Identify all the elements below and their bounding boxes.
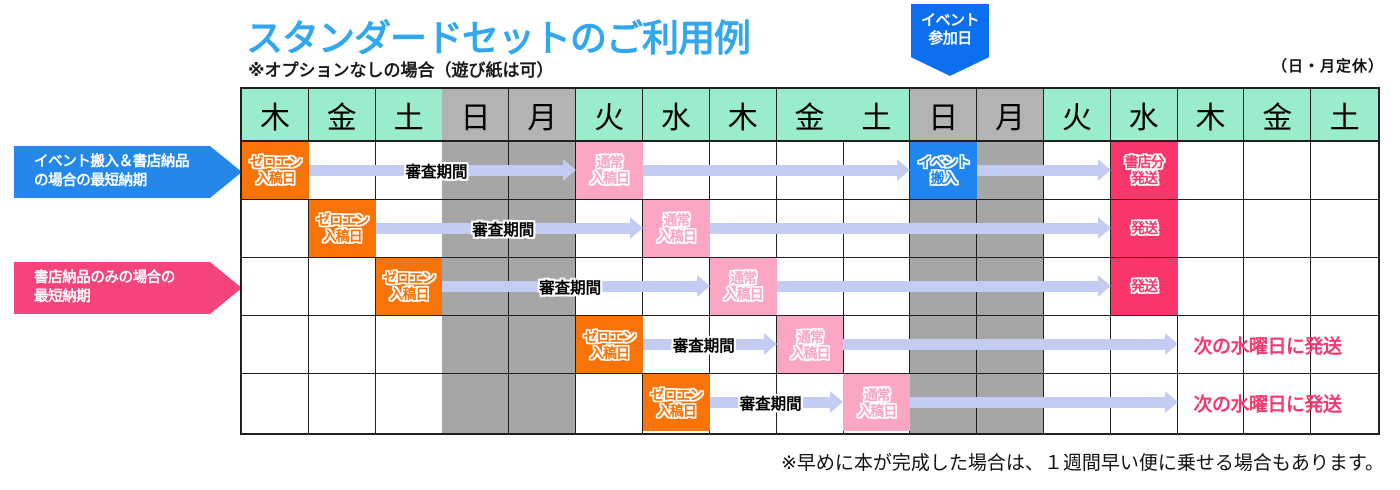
schedule-row: 審査期間次の水曜日に発送ゼロエン入稿日通常入稿日 — [242, 316, 1378, 374]
schedule-row: 審査期間次の水曜日に発送ゼロエン入稿日通常入稿日 — [242, 374, 1378, 432]
milestone-normal: 通常入稿日 — [843, 374, 910, 431]
day-header-1: 金 — [309, 89, 376, 140]
review-period-label: 審査期間 — [539, 276, 601, 298]
milestone-line2: 入稿日 — [857, 403, 896, 419]
flow-arrow — [643, 165, 898, 176]
milestone-line1: ゼロエン — [383, 270, 435, 286]
milestone-line1: 発送 — [1131, 278, 1157, 294]
schedule-row: 審査期間ゼロエン入稿日通常入稿日発送 — [242, 200, 1378, 258]
flow-arrow — [910, 397, 1165, 408]
day-header-5: 火 — [576, 89, 643, 140]
milestone-normal: 通常入稿日 — [777, 316, 844, 373]
day-header-0: 木 — [242, 89, 309, 140]
event-day-pennant: イベント 参加日 — [911, 4, 989, 76]
milestone-line1: 通常 — [797, 329, 823, 345]
milestone-normal: 通常入稿日 — [710, 258, 777, 315]
day-header-11: 月 — [977, 89, 1044, 140]
schedule-row: 審査期間ゼロエン入稿日通常入稿日イベント搬入書店分発送 — [242, 142, 1378, 200]
milestone-line1: ゼロエン — [584, 329, 636, 345]
day-header-6: 水 — [643, 89, 710, 140]
milestone-line1: 通常 — [730, 270, 756, 286]
schedule-chart-page: スタンダードセットのご利用例 ※オプションなしの場合（遊び紙は可） （日・月定休… — [0, 0, 1400, 490]
day-header-9: 土 — [843, 89, 910, 140]
day-header-10: 日 — [910, 89, 977, 140]
page-title: スタンダードセットのご利用例 — [246, 8, 750, 62]
flow-arrow — [710, 223, 1099, 234]
milestone-ship: 発送 — [1111, 200, 1178, 257]
grid-header-row: 木金土日月火水木金土日月火水木金土 — [242, 89, 1378, 142]
flow-arrow — [843, 339, 1165, 350]
day-header-8: 金 — [777, 89, 844, 140]
milestone-zero: ゼロエン入稿日 — [576, 316, 643, 373]
flow-arrow — [977, 165, 1099, 176]
milestone-normal: 通常入稿日 — [643, 200, 710, 257]
milestone-line2: 入稿日 — [256, 170, 295, 186]
milestone-normal: 通常入稿日 — [576, 142, 643, 199]
day-header-12: 火 — [1044, 89, 1111, 140]
milestone-line1: ゼロエン — [249, 154, 301, 170]
milestone-event: イベント搬入 — [910, 142, 977, 199]
day-header-14: 木 — [1178, 89, 1245, 140]
day-header-15: 金 — [1244, 89, 1311, 140]
day-header-3: 日 — [442, 89, 509, 140]
milestone-line1: 通常 — [663, 212, 689, 228]
side-label-line1: 書店納品のみの場合の — [34, 269, 242, 288]
milestone-line2: 入稿日 — [590, 170, 629, 186]
flow-arrow — [777, 281, 1099, 292]
schedule-grid: 木金土日月火水木金土日月火水木金土 審査期間ゼロエン入稿日通常入稿日イベント搬入… — [240, 87, 1380, 435]
review-period-label: 審査期間 — [405, 160, 467, 182]
milestone-line1: 通常 — [597, 154, 623, 170]
side-label-line2: の場合の最短納期 — [34, 172, 242, 191]
page-subtitle: ※オプションなしの場合（遊び紙は可） — [248, 56, 554, 81]
milestone-line2: 入稿日 — [790, 345, 829, 361]
next-wednesday-shipping-label: 次の水曜日に発送 — [1194, 332, 1342, 359]
grid-body: 審査期間ゼロエン入稿日通常入稿日イベント搬入書店分発送審査期間ゼロエン入稿日通常… — [242, 142, 1378, 433]
milestone-ship: 書店分発送 — [1111, 142, 1178, 199]
milestone-line1: 書店分 — [1125, 154, 1164, 170]
milestone-line1: ゼロエン — [316, 212, 368, 228]
milestone-zero: ゼロエン入稿日 — [376, 258, 443, 315]
milestone-line1: ゼロエン — [650, 387, 702, 403]
milestone-line2: 入稿日 — [323, 228, 362, 244]
review-period-label: 審査期間 — [673, 334, 735, 356]
milestone-line2: 入稿日 — [724, 286, 763, 302]
milestone-line2: 発送 — [1131, 170, 1157, 186]
milestone-zero: ゼロエン入稿日 — [309, 200, 376, 257]
side-label-bookstore-only: 書店納品のみの場合の 最短納期 — [14, 262, 242, 314]
day-header-7: 木 — [710, 89, 777, 140]
milestone-line1: 通常 — [864, 387, 890, 403]
pennant-line2: 参加日 — [911, 30, 989, 48]
pennant-line1: イベント — [911, 12, 989, 30]
day-header-13: 水 — [1111, 89, 1178, 140]
day-header-2: 土 — [376, 89, 443, 140]
milestone-line1: 発送 — [1131, 220, 1157, 236]
review-period-label: 審査期間 — [740, 392, 802, 414]
schedule-row: 審査期間ゼロエン入稿日通常入稿日発送 — [242, 258, 1378, 316]
milestone-line1: イベント — [918, 154, 970, 170]
milestone-line2: 入稿日 — [657, 403, 696, 419]
milestone-line2: 入稿日 — [657, 228, 696, 244]
milestone-ship: 発送 — [1111, 258, 1178, 315]
footnote: ※早めに本が完成した場合は、１週間早い便に乗せる場合もあります。 — [781, 448, 1384, 475]
side-label-line1: イベント搬入＆書店納品 — [34, 153, 242, 172]
next-wednesday-shipping-label: 次の水曜日に発送 — [1194, 390, 1342, 417]
review-period-label: 審査期間 — [472, 218, 534, 240]
milestone-line2: 入稿日 — [590, 345, 629, 361]
side-label-event-and-bookstore: イベント搬入＆書店納品 の場合の最短納期 — [14, 146, 242, 198]
closed-days-note: （日・月定休） — [1272, 55, 1384, 76]
milestone-zero: ゼロエン入稿日 — [242, 142, 309, 199]
milestone-line2: 入稿日 — [390, 286, 429, 302]
milestone-line2: 搬入 — [931, 170, 957, 186]
side-label-line2: 最短納期 — [34, 288, 242, 307]
milestone-zero: ゼロエン入稿日 — [643, 374, 710, 431]
day-header-4: 月 — [509, 89, 576, 140]
day-header-16: 土 — [1311, 89, 1378, 140]
